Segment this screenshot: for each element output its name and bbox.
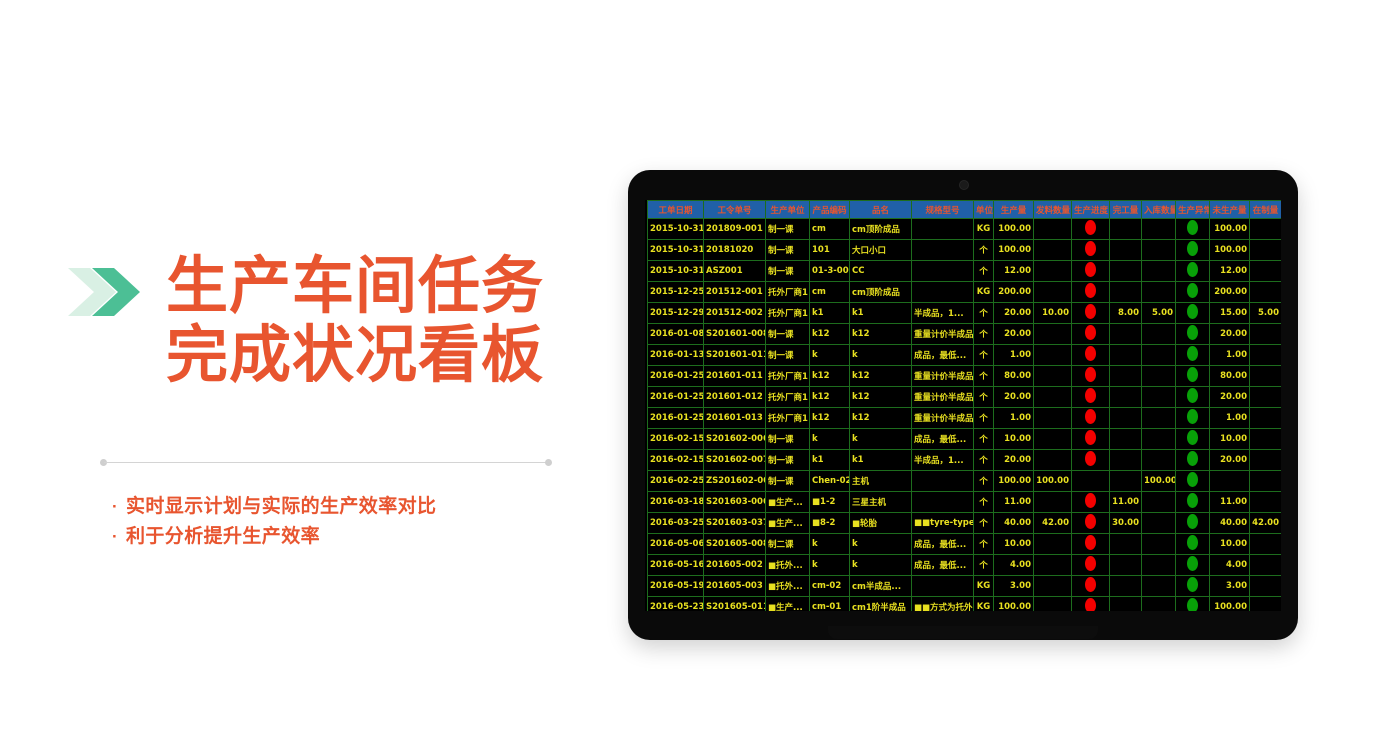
- cell-date: 2016-01-08: [648, 324, 704, 345]
- cell-remain: 20.00: [1210, 324, 1250, 345]
- status-led-green-icon: [1187, 577, 1198, 592]
- cell-abnormal: [1176, 387, 1210, 408]
- table-row[interactable]: 2016-02-15S201602-006制一课kk成品，最低...个10.00…: [648, 429, 1282, 450]
- cell-unit: 托外厂商1: [766, 366, 810, 387]
- cell-uom: 个: [974, 303, 994, 324]
- status-led-red-icon: [1085, 493, 1096, 508]
- cell-remain: 200.00: [1210, 282, 1250, 303]
- cell-remain: 20.00: [1210, 387, 1250, 408]
- cell-remain: 11.00: [1210, 492, 1250, 513]
- cell-wip: [1250, 219, 1282, 240]
- cell-done: 8.00: [1110, 303, 1142, 324]
- table-body: 2015-10-31201809-001制一课cmcm顶阶成品KG100.001…: [648, 219, 1282, 612]
- cell-uom: 个: [974, 240, 994, 261]
- cell-name: k: [850, 429, 912, 450]
- column-header-9[interactable]: 生产进度: [1072, 201, 1110, 219]
- cell-code: ■1-2: [810, 492, 850, 513]
- cell-date: 2016-03-25: [648, 513, 704, 534]
- table-row[interactable]: 2016-05-06S201605-008制二课kk成品，最低...个10.00…: [648, 534, 1282, 555]
- cell-abnormal: [1176, 576, 1210, 597]
- cell-spec: 半成品，1...: [912, 303, 974, 324]
- cell-abnormal: [1176, 282, 1210, 303]
- cell-qty: 100.00: [994, 597, 1034, 612]
- cell-unit: 制一课: [766, 345, 810, 366]
- cell-uom: 个: [974, 366, 994, 387]
- divider: [100, 459, 552, 466]
- divider-dot-right: [545, 459, 552, 466]
- cell-date: 2016-05-19: [648, 576, 704, 597]
- slide-left-panel: 生产车间任务 完成状况看板 · 实时显示计划与实际的生产效率对比 · 利于分析提…: [0, 0, 620, 753]
- cell-wip: [1250, 387, 1282, 408]
- cell-done: [1110, 408, 1142, 429]
- cell-date: 2016-02-25: [648, 471, 704, 492]
- status-led-green-icon: [1187, 220, 1198, 235]
- cell-stock: [1142, 387, 1176, 408]
- cell-spec: [912, 492, 974, 513]
- table-row[interactable]: 2016-01-13S201601-011制一课kk成品，最低...个1.001…: [648, 345, 1282, 366]
- status-led-red-icon: [1085, 598, 1096, 611]
- cell-progress: [1072, 534, 1110, 555]
- cell-date: 2016-01-25: [648, 387, 704, 408]
- cell-stock: 100.00: [1142, 471, 1176, 492]
- cell-name: k12: [850, 408, 912, 429]
- cell-stock: [1142, 555, 1176, 576]
- cell-date: 2016-05-23: [648, 597, 704, 612]
- cell-wip: [1250, 429, 1282, 450]
- cell-issued: [1034, 534, 1072, 555]
- cell-spec: [912, 219, 974, 240]
- column-header-14[interactable]: 在制量: [1250, 201, 1282, 219]
- monitor-screen: 工单日期工令单号生产单位产品编码品名规格型号单位生产量发料数量生产进度完工量入库…: [645, 200, 1281, 611]
- cell-unit: 托外厂商1: [766, 387, 810, 408]
- cell-order: S201601-011: [704, 345, 766, 366]
- cell-stock: [1142, 534, 1176, 555]
- cell-date: 2015-10-31: [648, 240, 704, 261]
- cell-spec: 成品，最低...: [912, 555, 974, 576]
- cell-qty: 3.00: [994, 576, 1034, 597]
- cell-remain: 100.00: [1210, 597, 1250, 612]
- cell-issued: [1034, 240, 1072, 261]
- cell-unit: 制一课: [766, 450, 810, 471]
- cell-issued: [1034, 597, 1072, 612]
- cell-unit: 制一课: [766, 471, 810, 492]
- cell-remain: [1210, 471, 1250, 492]
- cell-date: 2015-12-29: [648, 303, 704, 324]
- cell-qty: 20.00: [994, 450, 1034, 471]
- cell-order: 201809-001: [704, 219, 766, 240]
- cell-spec: 重量计价半成品: [912, 324, 974, 345]
- cell-progress: [1072, 303, 1110, 324]
- status-led-red-icon: [1085, 283, 1096, 298]
- cell-qty: 10.00: [994, 534, 1034, 555]
- status-led-green-icon: [1187, 409, 1198, 424]
- cell-abnormal: [1176, 471, 1210, 492]
- cell-stock: [1142, 240, 1176, 261]
- cell-spec: [912, 261, 974, 282]
- cell-progress: [1072, 282, 1110, 303]
- cell-abnormal: [1176, 240, 1210, 261]
- cell-qty: 11.00: [994, 492, 1034, 513]
- list-item: · 利于分析提升生产效率: [112, 522, 582, 552]
- column-header-6[interactable]: 单位: [974, 201, 994, 219]
- status-led-green-icon: [1187, 514, 1198, 529]
- cell-code: k: [810, 534, 850, 555]
- status-led-red-icon: [1085, 556, 1096, 571]
- cell-stock: [1142, 345, 1176, 366]
- cell-uom: 个: [974, 534, 994, 555]
- cell-wip: [1250, 261, 1282, 282]
- cell-remain: 12.00: [1210, 261, 1250, 282]
- status-led-green-icon: [1187, 367, 1198, 382]
- cell-stock: [1142, 366, 1176, 387]
- cell-name: k12: [850, 387, 912, 408]
- bullet-marker-icon: ·: [112, 522, 126, 552]
- table-row[interactable]: 2016-02-15S201602-007制一课k1k1半成品，1...个20.…: [648, 450, 1282, 471]
- cell-unit: 制一课: [766, 324, 810, 345]
- cell-issued: [1034, 555, 1072, 576]
- cell-uom: 个: [974, 345, 994, 366]
- cell-date: 2016-01-13: [648, 345, 704, 366]
- cell-uom: 个: [974, 429, 994, 450]
- column-header-3[interactable]: 产品编码: [810, 201, 850, 219]
- table-row[interactable]: 2016-05-19201605-003■托外...cm-02cm半成品...K…: [648, 576, 1282, 597]
- cell-issued: [1034, 324, 1072, 345]
- cell-wip: [1250, 366, 1282, 387]
- camera-dot-icon: [959, 180, 969, 190]
- column-header-0[interactable]: 工单日期: [648, 201, 704, 219]
- table-row[interactable]: 2016-02-25ZS201602-004制一课Chen-02主机个100.0…: [648, 471, 1282, 492]
- cell-qty: 1.00: [994, 408, 1034, 429]
- table-row[interactable]: 2016-01-25201601-013托外厂商1k12k12重量计价半成品个1…: [648, 408, 1282, 429]
- cell-order: S201602-006: [704, 429, 766, 450]
- column-header-8[interactable]: 发料数量: [1034, 201, 1072, 219]
- cell-uom: KG: [974, 576, 994, 597]
- status-led-red-icon: [1085, 367, 1096, 382]
- cell-order: S201605-011: [704, 597, 766, 612]
- status-led-red-icon: [1085, 346, 1096, 361]
- table-row[interactable]: 2016-03-18S201603-006■生产...■1-2三星主机个11.0…: [648, 492, 1282, 513]
- cell-name: k1: [850, 450, 912, 471]
- cell-stock: [1142, 450, 1176, 471]
- cell-unit: ■托外...: [766, 555, 810, 576]
- cell-progress: [1072, 408, 1110, 429]
- cell-qty: 100.00: [994, 219, 1034, 240]
- cell-stock: [1142, 429, 1176, 450]
- cell-order: S201603-037: [704, 513, 766, 534]
- status-led-red-icon: [1085, 220, 1096, 235]
- cell-spec: 成品，最低...: [912, 534, 974, 555]
- cell-unit: 制一课: [766, 429, 810, 450]
- cell-wip: [1250, 576, 1282, 597]
- cell-remain: 4.00: [1210, 555, 1250, 576]
- table-row[interactable]: 2015-12-29201512-002托外厂商1k1k1半成品，1...个20…: [648, 303, 1282, 324]
- cell-done: [1110, 345, 1142, 366]
- cell-spec: 半成品，1...: [912, 450, 974, 471]
- cell-order: S201605-008: [704, 534, 766, 555]
- cell-order: S201602-007: [704, 450, 766, 471]
- cell-stock: [1142, 513, 1176, 534]
- status-led-green-icon: [1187, 388, 1198, 403]
- cell-wip: [1250, 282, 1282, 303]
- cell-progress: [1072, 240, 1110, 261]
- cell-order: 201605-003: [704, 576, 766, 597]
- cell-progress: [1072, 366, 1110, 387]
- cell-done: [1110, 261, 1142, 282]
- cell-unit: 制一课: [766, 219, 810, 240]
- table-row[interactable]: 2016-05-23S201605-011■生产...cm-01cm1阶半成品■…: [648, 597, 1282, 612]
- cell-wip: [1250, 240, 1282, 261]
- cell-wip: [1250, 555, 1282, 576]
- cell-done: [1110, 555, 1142, 576]
- cell-issued: [1034, 576, 1072, 597]
- cell-qty: 20.00: [994, 387, 1034, 408]
- cell-progress: [1072, 492, 1110, 513]
- table-row[interactable]: 2015-10-3120181020制一课101大口小口个100.00100.0…: [648, 240, 1282, 261]
- cell-code: ■8-2: [810, 513, 850, 534]
- cell-abnormal: [1176, 597, 1210, 612]
- cell-progress: [1072, 450, 1110, 471]
- cell-done: 11.00: [1110, 492, 1142, 513]
- cell-wip: 5.00: [1250, 303, 1282, 324]
- cell-order: ASZ001: [704, 261, 766, 282]
- status-led-red-icon: [1085, 409, 1096, 424]
- cell-spec: 重量计价半成品: [912, 366, 974, 387]
- bullet-text: 实时显示计划与实际的生产效率对比: [126, 492, 436, 522]
- cell-stock: [1142, 597, 1176, 612]
- cell-progress: [1072, 261, 1110, 282]
- cell-abnormal: [1176, 219, 1210, 240]
- cell-done: [1110, 219, 1142, 240]
- cell-order: 201605-002: [704, 555, 766, 576]
- cell-stock: [1142, 282, 1176, 303]
- cell-remain: 10.00: [1210, 534, 1250, 555]
- cell-remain: 40.00: [1210, 513, 1250, 534]
- cell-abnormal: [1176, 408, 1210, 429]
- cell-spec: [912, 240, 974, 261]
- cell-remain: 3.00: [1210, 576, 1250, 597]
- cell-stock: 5.00: [1142, 303, 1176, 324]
- cell-progress: [1072, 597, 1110, 612]
- monitor-bezel: 工单日期工令单号生产单位产品编码品名规格型号单位生产量发料数量生产进度完工量入库…: [628, 170, 1298, 640]
- column-header-13[interactable]: 未生产量: [1210, 201, 1250, 219]
- cell-uom: 个: [974, 555, 994, 576]
- cell-issued: [1034, 429, 1072, 450]
- table-row[interactable]: 2015-10-31ASZ001制一课01-3-001CC个12.0012.00…: [648, 261, 1282, 282]
- cell-issued: [1034, 492, 1072, 513]
- table-row[interactable]: 2016-01-25201601-011托外厂商1k12k12重量计价半成品个8…: [648, 366, 1282, 387]
- cell-spec: ■■tyre-type: [912, 513, 974, 534]
- status-led-green-icon: [1187, 535, 1198, 550]
- cell-abnormal: [1176, 513, 1210, 534]
- cell-name: ■轮胎: [850, 513, 912, 534]
- cell-name: k12: [850, 366, 912, 387]
- cell-date: 2016-03-18: [648, 492, 704, 513]
- cell-remain: 1.00: [1210, 408, 1250, 429]
- status-led-red-icon: [1085, 535, 1096, 550]
- cell-stock: [1142, 576, 1176, 597]
- cell-unit: 托外厂商1: [766, 408, 810, 429]
- cell-stock: [1142, 408, 1176, 429]
- list-item: · 实时显示计划与实际的生产效率对比: [112, 492, 582, 522]
- cell-order: 20181020: [704, 240, 766, 261]
- cell-qty: 10.00: [994, 429, 1034, 450]
- cell-wip: [1250, 450, 1282, 471]
- cell-name: k12: [850, 324, 912, 345]
- cell-date: 2016-05-16: [648, 555, 704, 576]
- column-header-11[interactable]: 入库数量: [1142, 201, 1176, 219]
- column-header-10[interactable]: 完工量: [1110, 201, 1142, 219]
- cell-uom: KG: [974, 597, 994, 612]
- cell-abnormal: [1176, 492, 1210, 513]
- cell-code: k12: [810, 408, 850, 429]
- cell-progress: [1072, 555, 1110, 576]
- status-led-red-icon: [1085, 262, 1096, 277]
- cell-done: [1110, 324, 1142, 345]
- bullet-marker-icon: ·: [112, 492, 126, 522]
- cell-code: cm: [810, 282, 850, 303]
- cell-issued: 10.00: [1034, 303, 1072, 324]
- cell-qty: 80.00: [994, 366, 1034, 387]
- cell-stock: [1142, 492, 1176, 513]
- cell-unit: 制一课: [766, 240, 810, 261]
- cell-remain: 10.00: [1210, 429, 1250, 450]
- cell-name: k: [850, 555, 912, 576]
- cell-wip: 42.00: [1250, 513, 1282, 534]
- cell-done: [1110, 576, 1142, 597]
- status-led-green-icon: [1187, 241, 1198, 256]
- cell-date: 2015-10-31: [648, 219, 704, 240]
- column-header-5[interactable]: 规格型号: [912, 201, 974, 219]
- cell-spec: [912, 576, 974, 597]
- cell-order: S201603-006: [704, 492, 766, 513]
- cell-uom: 个: [974, 513, 994, 534]
- column-header-12[interactable]: 生产异常: [1176, 201, 1210, 219]
- table-row[interactable]: 2016-03-25S201603-037■生产...■8-2■轮胎■■tyre…: [648, 513, 1282, 534]
- cell-order: 201601-013: [704, 408, 766, 429]
- table-row[interactable]: 2016-05-16201605-002■托外...kk成品，最低...个4.0…: [648, 555, 1282, 576]
- table-row[interactable]: 2016-01-25201601-012托外厂商1k12k12重量计价半成品个2…: [648, 387, 1282, 408]
- cell-code: cm-01: [810, 597, 850, 612]
- cell-remain: 1.00: [1210, 345, 1250, 366]
- cell-name: cm顶阶成品: [850, 282, 912, 303]
- cell-remain: 100.00: [1210, 240, 1250, 261]
- cell-progress: [1072, 345, 1110, 366]
- cell-name: 主机: [850, 471, 912, 492]
- table-row[interactable]: 2015-12-25201512-001托外厂商1cmcm顶阶成品KG200.0…: [648, 282, 1282, 303]
- cell-done: [1110, 366, 1142, 387]
- cell-unit: 托外厂商1: [766, 303, 810, 324]
- cell-issued: [1034, 282, 1072, 303]
- cell-spec: 重量计价半成品: [912, 387, 974, 408]
- table-row[interactable]: 2015-10-31201809-001制一课cmcm顶阶成品KG100.001…: [648, 219, 1282, 240]
- cell-uom: 个: [974, 492, 994, 513]
- cell-order: ZS201602-004: [704, 471, 766, 492]
- cell-stock: [1142, 324, 1176, 345]
- cell-code: k: [810, 345, 850, 366]
- status-led-green-icon: [1187, 451, 1198, 466]
- cell-code: k12: [810, 387, 850, 408]
- status-led-green-icon: [1187, 598, 1198, 611]
- cell-order: 201512-002: [704, 303, 766, 324]
- cell-unit: ■生产...: [766, 597, 810, 612]
- cell-qty: 100.00: [994, 240, 1034, 261]
- cell-issued: [1034, 366, 1072, 387]
- cell-stock: [1142, 219, 1176, 240]
- cell-name: 大口小口: [850, 240, 912, 261]
- table-row[interactable]: 2016-01-08S201601-008制一课k12k12重量计价半成品个20…: [648, 324, 1282, 345]
- cell-name: cm顶阶成品: [850, 219, 912, 240]
- cell-wip: [1250, 471, 1282, 492]
- cell-done: [1110, 240, 1142, 261]
- cell-abnormal: [1176, 555, 1210, 576]
- cell-code: k: [810, 429, 850, 450]
- cell-name: cm半成品...: [850, 576, 912, 597]
- cell-spec: ■■方式为托外: [912, 597, 974, 612]
- bullet-text: 利于分析提升生产效率: [126, 522, 320, 552]
- cell-order: S201601-008: [704, 324, 766, 345]
- cell-uom: 个: [974, 387, 994, 408]
- status-led-green-icon: [1187, 325, 1198, 340]
- cell-uom: 个: [974, 324, 994, 345]
- cell-abnormal: [1176, 450, 1210, 471]
- cell-order: 201512-001: [704, 282, 766, 303]
- cell-progress: [1072, 471, 1110, 492]
- cell-order: 201601-011: [704, 366, 766, 387]
- cell-spec: [912, 471, 974, 492]
- cell-issued: [1034, 387, 1072, 408]
- cell-progress: [1072, 576, 1110, 597]
- status-led-red-icon: [1085, 451, 1096, 466]
- cell-qty: 12.00: [994, 261, 1034, 282]
- column-header-2[interactable]: 生产单位: [766, 201, 810, 219]
- cell-date: 2016-01-25: [648, 408, 704, 429]
- cell-qty: 40.00: [994, 513, 1034, 534]
- cell-qty: 100.00: [994, 471, 1034, 492]
- cell-wip: [1250, 408, 1282, 429]
- cell-qty: 4.00: [994, 555, 1034, 576]
- status-led-red-icon: [1085, 577, 1096, 592]
- production-task-table: 工单日期工令单号生产单位产品编码品名规格型号单位生产量发料数量生产进度完工量入库…: [647, 200, 1281, 611]
- status-led-green-icon: [1187, 304, 1198, 319]
- cell-spec: 重量计价半成品: [912, 408, 974, 429]
- cell-issued: [1034, 450, 1072, 471]
- cell-done: [1110, 387, 1142, 408]
- cell-unit: ■生产...: [766, 513, 810, 534]
- cell-uom: 个: [974, 408, 994, 429]
- cell-abnormal: [1176, 303, 1210, 324]
- cell-issued: [1034, 261, 1072, 282]
- cell-done: [1110, 597, 1142, 612]
- cell-done: [1110, 429, 1142, 450]
- cell-qty: 20.00: [994, 303, 1034, 324]
- cell-uom: KG: [974, 219, 994, 240]
- cell-uom: 个: [974, 471, 994, 492]
- status-led-green-icon: [1187, 346, 1198, 361]
- cell-progress: [1072, 387, 1110, 408]
- cell-uom: 个: [974, 450, 994, 471]
- cell-issued: 42.00: [1034, 513, 1072, 534]
- cell-wip: [1250, 492, 1282, 513]
- cell-code: 101: [810, 240, 850, 261]
- cell-unit: 制一课: [766, 261, 810, 282]
- column-header-7[interactable]: 生产量: [994, 201, 1034, 219]
- cell-wip: [1250, 324, 1282, 345]
- column-header-4[interactable]: 品名: [850, 201, 912, 219]
- status-led-red-icon: [1085, 430, 1096, 445]
- column-header-1[interactable]: 工令单号: [704, 201, 766, 219]
- cell-unit: 制二课: [766, 534, 810, 555]
- cell-name: k: [850, 534, 912, 555]
